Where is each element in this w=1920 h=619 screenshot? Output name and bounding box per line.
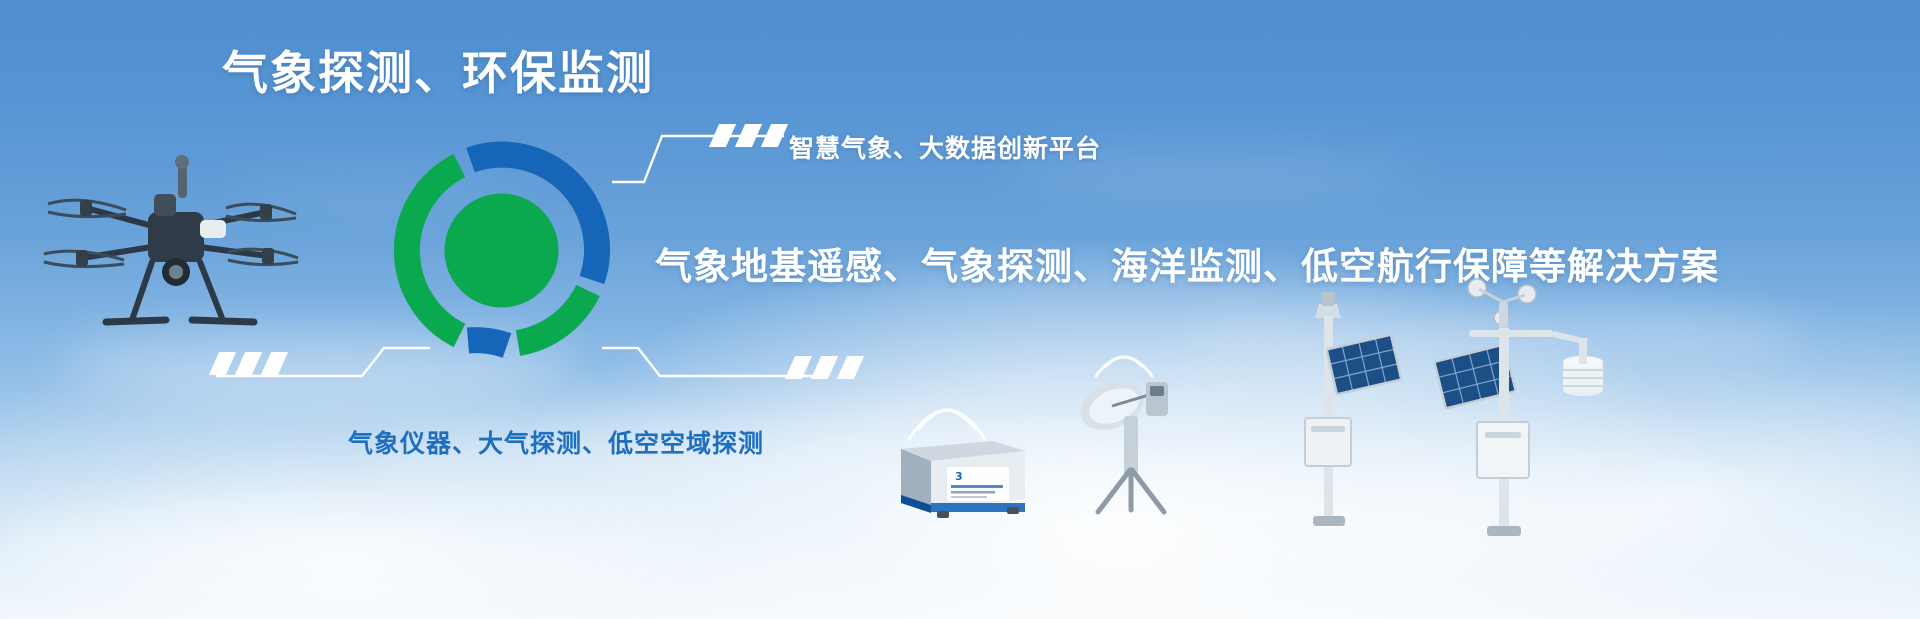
cloud-wisp bbox=[0, 500, 700, 590]
weather-mast bbox=[1415, 272, 1625, 542]
banner-hero: 气象探测、环保监测 bbox=[0, 0, 1920, 619]
slash-marker-bottom-left bbox=[214, 352, 283, 375]
svg-text:3: 3 bbox=[955, 470, 963, 483]
callout-text-top: 智慧气象、大数据创新平台 bbox=[789, 129, 1101, 165]
slash-marker-bottom-right bbox=[790, 356, 859, 379]
connector-line-bottom-right bbox=[598, 342, 818, 388]
slash-marker-top bbox=[714, 124, 783, 147]
ring-segment-blue-bottom bbox=[468, 340, 507, 345]
ring-logo bbox=[389, 138, 614, 363]
satellite-dish bbox=[1060, 320, 1210, 520]
banner-title: 气象探测、环保监测 bbox=[222, 46, 654, 100]
particle-analyzer: 3 bbox=[885, 385, 1035, 520]
ring-core bbox=[445, 194, 559, 308]
solar-monitoring-station bbox=[1275, 288, 1405, 538]
drone bbox=[40, 150, 300, 340]
callout-text-bottom: 气象仪器、大气探测、低空空域探测 bbox=[348, 424, 764, 460]
